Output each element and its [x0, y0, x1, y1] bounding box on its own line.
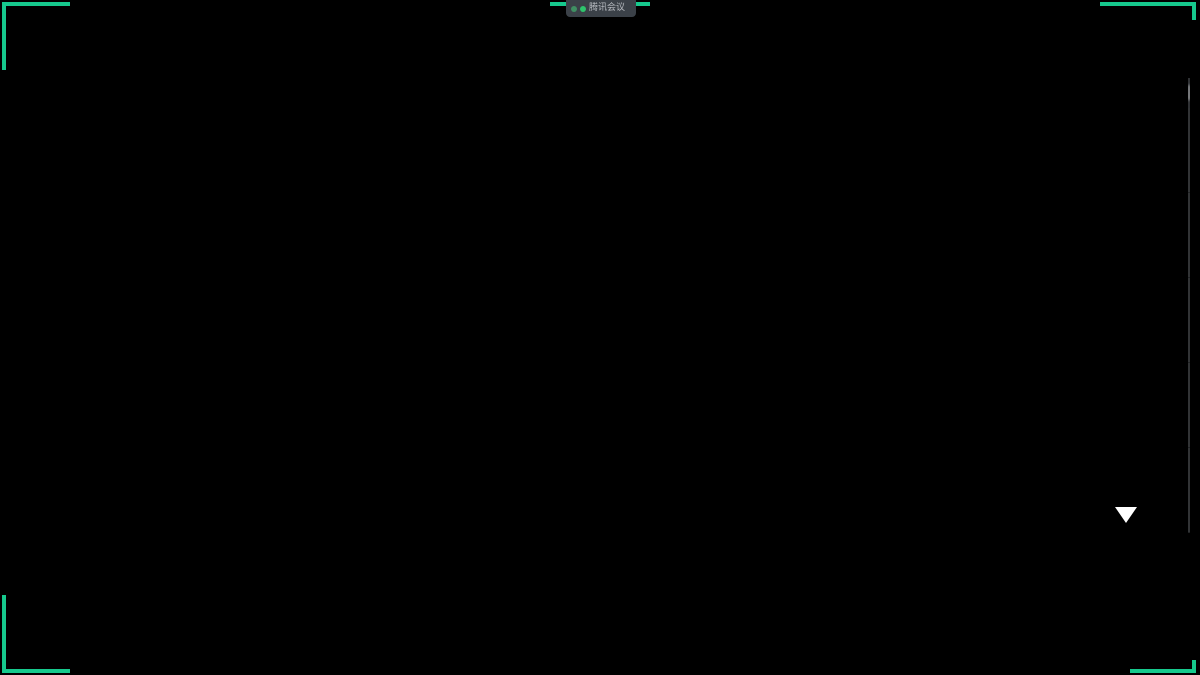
frame-gap [70, 0, 550, 10]
frame-gap [0, 70, 10, 595]
frame-gap [1190, 20, 1200, 660]
mouse-cursor [1115, 507, 1137, 523]
screen-root: 北京物资学院 BEIJING WUZI UNIVERSITY [0, 0, 1200, 675]
frame-gap [70, 665, 1130, 675]
recording-indicator-dot [580, 6, 586, 12]
share-indicator-dot [571, 6, 577, 12]
meeting-status-pill[interactable]: 腾讯会议 [566, 0, 636, 17]
share-border-inner-mask [10, 10, 1188, 665]
meeting-app-name: 腾讯会议 [589, 4, 625, 13]
frame-gap [650, 0, 1100, 10]
